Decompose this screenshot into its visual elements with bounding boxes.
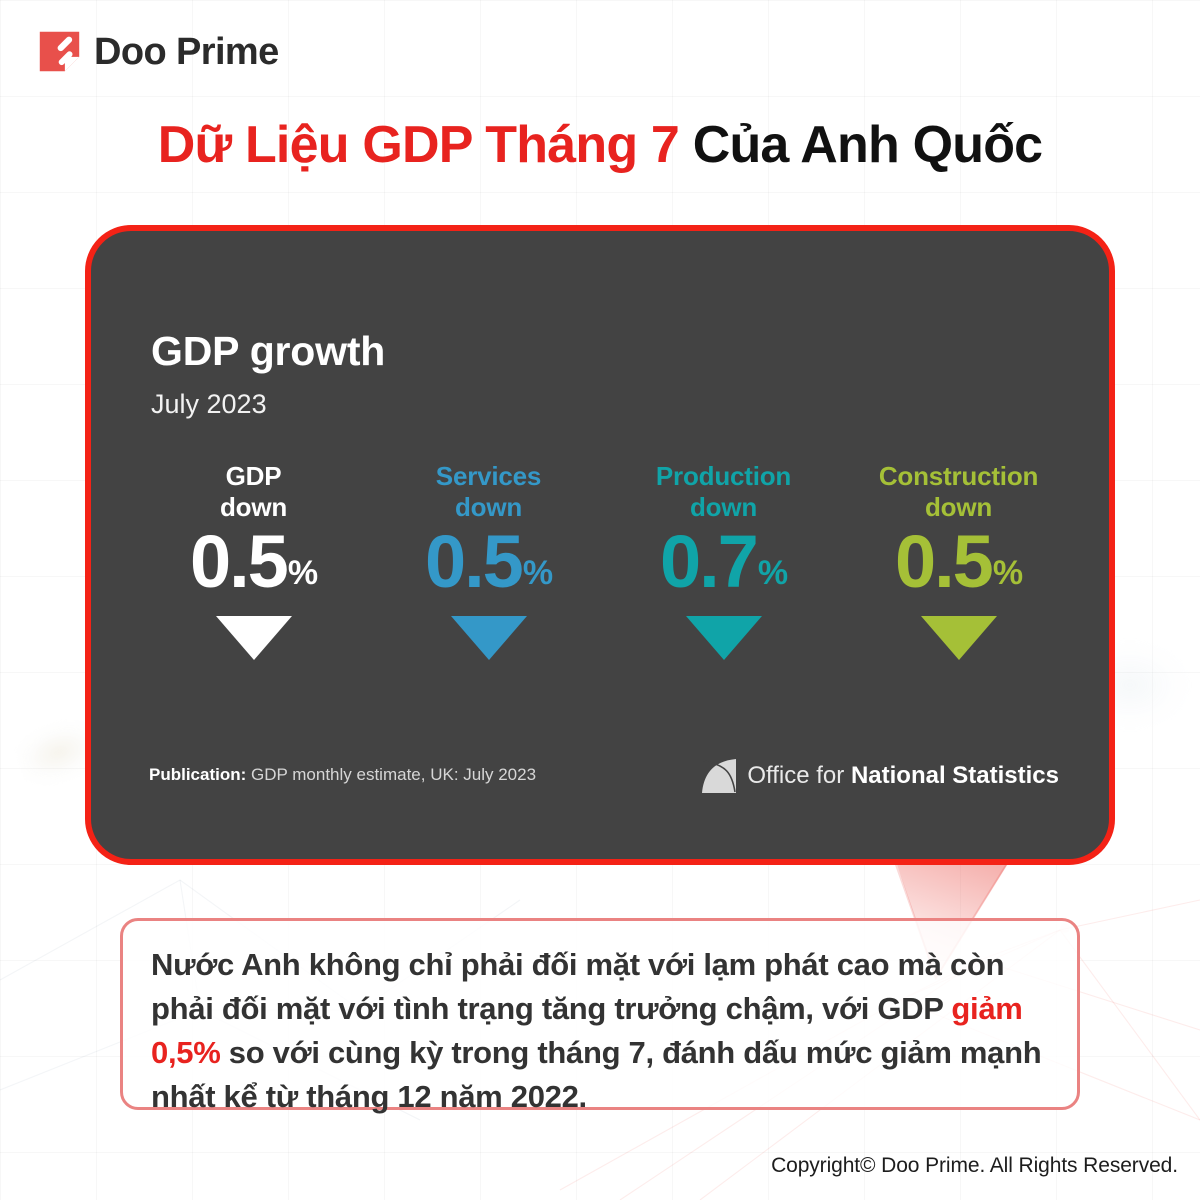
summary-text: Nước Anh không chỉ phải đối mặt với lạm … [151,943,1047,1119]
page-title-dark: Của Anh Quốc [693,116,1043,174]
stat-label: Production down [656,461,791,522]
stat-label: GDP down [220,461,287,522]
card-subtitle: July 2023 [151,391,267,418]
stat-services: Services down 0.5% [371,461,606,660]
ons-text-light: Office for [747,762,851,789]
stat-production: Production down 0.7% [606,461,841,660]
arrow-down-icon [686,616,762,660]
arrow-down-icon [921,616,997,660]
stat-gdp: GDP down 0.5% [136,461,371,660]
card-footer: Publication: GDP monthly estimate, UK: J… [91,759,1109,801]
stat-label: Services down [436,461,541,522]
ons-arc-icon [702,759,736,793]
stat-value: 0.7% [660,528,787,596]
brand-name: Doo Prime [94,33,279,71]
arrow-down-icon [216,616,292,660]
publication-value: GDP monthly estimate, UK: July 2023 [246,765,536,784]
stat-percent-symbol: % [993,556,1023,590]
stat-construction: Construction down 0.5% [841,461,1076,660]
stat-percent-symbol: % [523,556,553,590]
stat-value: 0.5% [425,528,552,596]
page-title: Dữ Liệu GDP Tháng 7 Của Anh Quốc [0,116,1200,174]
summary-part-1: Nước Anh không chỉ phải đối mặt với lạm … [151,947,1004,1026]
stat-number: 0.7 [660,528,757,596]
stat-number: 0.5 [895,528,992,596]
stat-percent-symbol: % [288,556,318,590]
stat-number: 0.5 [190,528,287,596]
doo-prime-flag-icon [38,30,81,73]
stat-value: 0.5% [895,528,1022,596]
publication-note: Publication: GDP monthly estimate, UK: J… [149,765,536,785]
card-title: GDP growth [151,331,385,372]
brand-header: Doo Prime [38,30,279,73]
stat-number: 0.5 [425,528,522,596]
ons-logo: Office for National Statistics [702,759,1059,793]
arrow-down-icon [451,616,527,660]
stat-value: 0.5% [190,528,317,596]
stat-percent-symbol: % [758,556,788,590]
summary-part-2: so với cùng kỳ trong tháng 7, đánh dấu m… [151,1035,1041,1114]
stat-label: Construction down [879,461,1038,522]
copyright-notice: Copyright© Doo Prime. All Rights Reserve… [771,1154,1178,1178]
infographic-page: Doo Prime Dữ Liệu GDP Tháng 7 Của Anh Qu… [0,0,1200,1200]
summary-callout: Nước Anh không chỉ phải đối mặt với lạm … [120,918,1080,1110]
page-title-red: Dữ Liệu GDP Tháng 7 [158,116,693,174]
ons-text-bold: National Statistics [851,762,1059,789]
stats-row: GDP down 0.5% Services down 0.5% Product… [136,461,1076,660]
publication-label: Publication: [149,765,246,784]
gdp-growth-card: GDP growth July 2023 GDP down 0.5% Servi… [85,225,1115,865]
ons-logo-text: Office for National Statistics [747,764,1059,788]
